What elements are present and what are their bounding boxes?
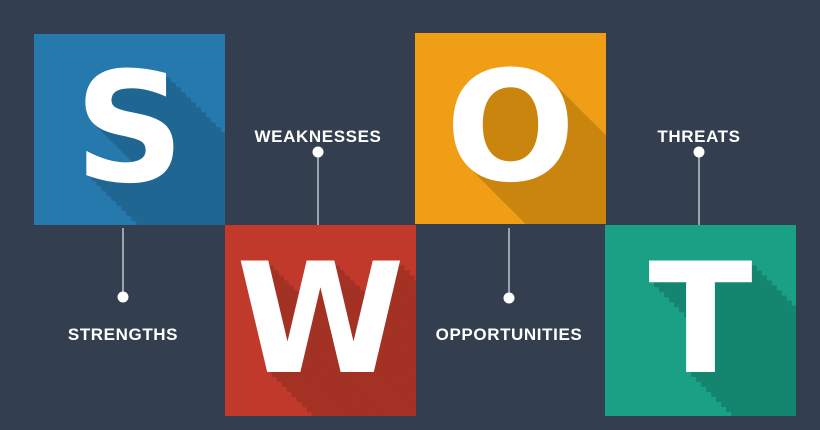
swot-letter-opportunities: O xyxy=(415,33,606,224)
connector-dot-strengths xyxy=(118,292,129,303)
connector-line-strengths xyxy=(122,228,124,297)
swot-tile-threats[interactable]: TTTTTTTTTTTTTTTTTTTTTTTTTTTTTTTTTTTTTTTT… xyxy=(605,225,796,416)
swot-label-strengths: STRENGTHS xyxy=(68,325,178,345)
swot-letter-threats: T xyxy=(605,225,796,416)
swot-label-weaknesses: WEAKNESSES xyxy=(255,127,382,147)
connector-dot-weaknesses xyxy=(313,147,324,158)
connector-line-weaknesses xyxy=(317,152,319,225)
swot-diagram: SSSSSSSSSSSSSSSSSSSSSSSSSSSSSSSSSSSSSSSS… xyxy=(0,0,820,430)
swot-tile-strengths[interactable]: SSSSSSSSSSSSSSSSSSSSSSSSSSSSSSSSSSSSSSSS… xyxy=(34,34,225,225)
swot-letter-strengths: S xyxy=(34,34,225,225)
connector-dot-opportunities xyxy=(504,293,515,304)
swot-tile-weaknesses[interactable]: WWWWWWWWWWWWWWWWWWWWWWWWWWWWWWWWWWWWWWWW… xyxy=(225,225,416,416)
swot-label-opportunities: OPPORTUNITIES xyxy=(436,325,583,345)
swot-tile-opportunities[interactable]: OOOOOOOOOOOOOOOOOOOOOOOOOOOOOOOOOOOOOOOO… xyxy=(415,33,606,224)
swot-letter-weaknesses: W xyxy=(225,225,416,416)
swot-label-threats: THREATS xyxy=(657,127,740,147)
connector-line-threats xyxy=(698,152,700,225)
connector-dot-threats xyxy=(694,147,705,158)
connector-line-opportunities xyxy=(508,228,510,298)
